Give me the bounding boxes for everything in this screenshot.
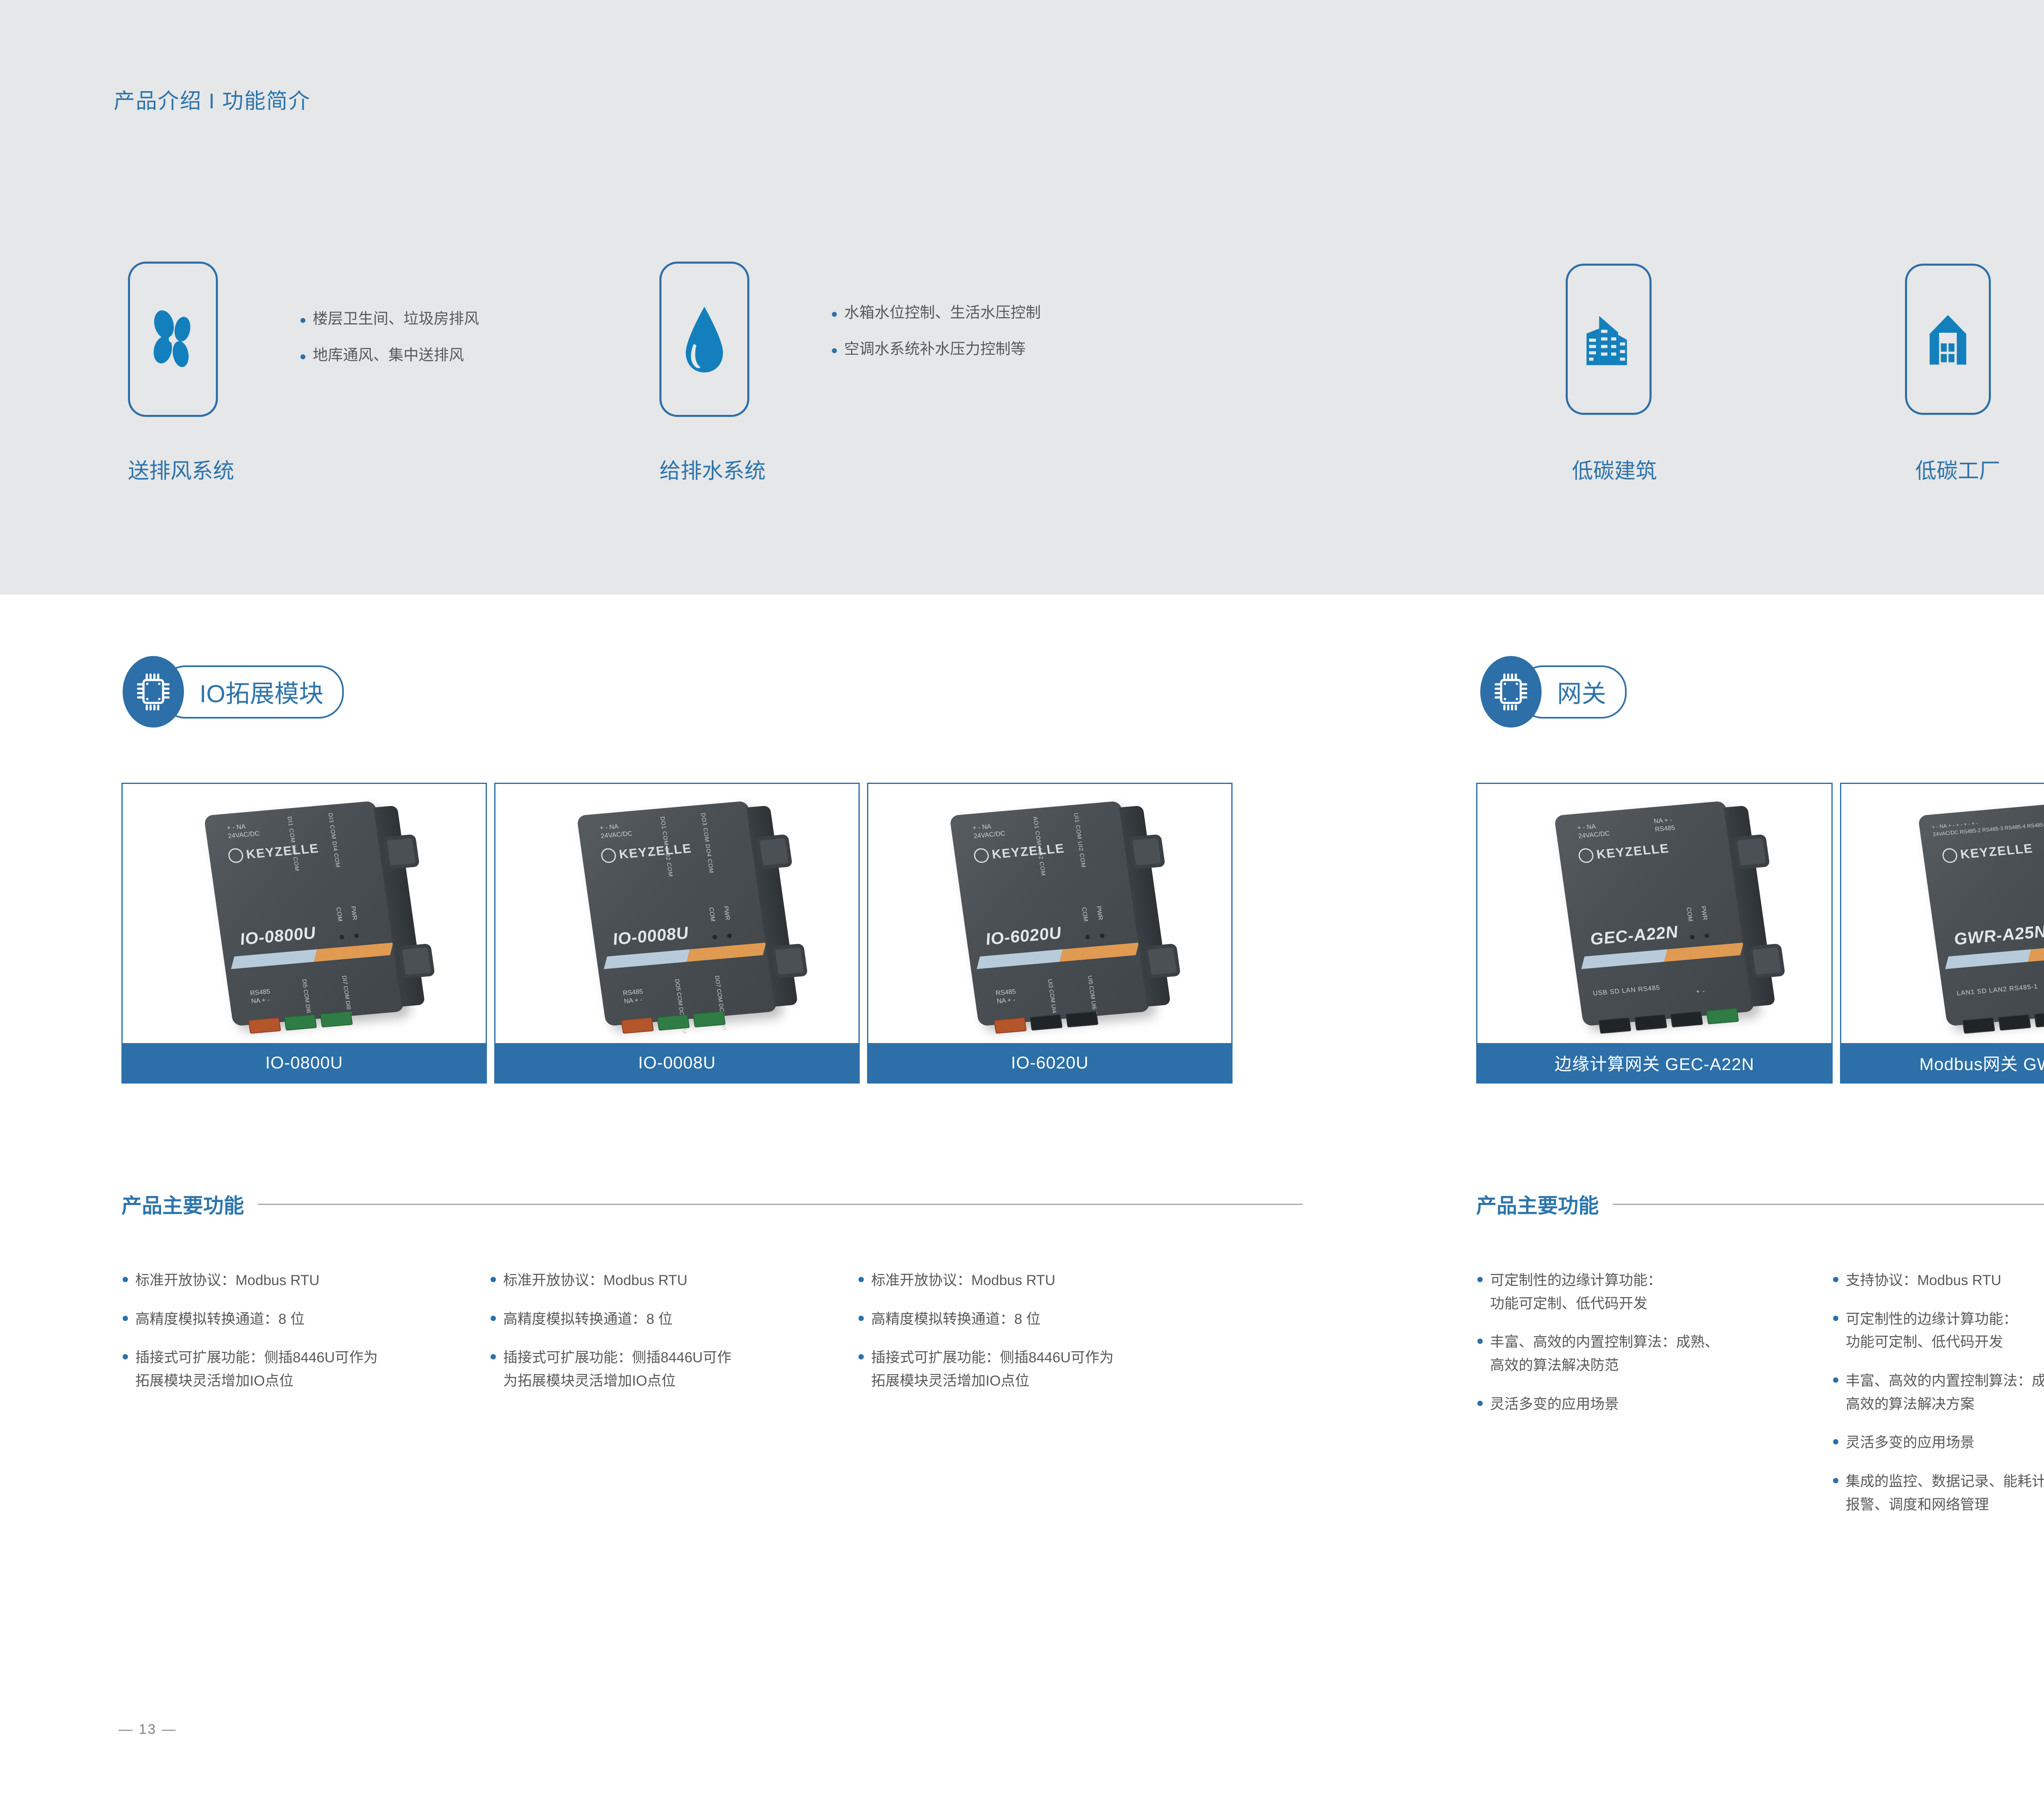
feature-text: 插接式可扩展功能：侧插8446U可作为 拓展模块灵活增加IO点位 <box>871 1346 1114 1393</box>
device-top-ports-2: DI3 COM DI4 COM <box>327 813 341 868</box>
product-caption: IO-0008U <box>495 1043 858 1082</box>
terminal-block <box>1066 1011 1099 1028</box>
list-item: 标准开放协议：Modbus RTU <box>858 1269 1226 1292</box>
bullet-dot-icon <box>1833 1478 1838 1483</box>
bullet-text: 地库通风、集中送排风 <box>313 347 464 364</box>
device-model: GEC-A22N <box>1589 922 1679 949</box>
device-terminal-blocks <box>1962 1008 2044 1034</box>
section-title-io: IO拓展模块 <box>199 674 323 710</box>
device-mount-ear-bottom <box>1143 943 1181 978</box>
usb-port <box>1598 1017 1632 1034</box>
target-tile-factory-label: 低碳工厂 <box>1915 454 2000 484</box>
bullet-dot-icon <box>1477 1339 1483 1344</box>
terminal-block <box>1030 1014 1063 1030</box>
chip-glyph-icon <box>136 672 171 712</box>
device-led-label-com: COM <box>335 907 344 922</box>
list-item: 空调水系统补水压力控制等 <box>832 341 1041 358</box>
feature-text: 灵活多变的应用场景 <box>1846 1431 1975 1455</box>
brochure-page: 产品介绍 I 功能简介 产品介绍 I 功能简介 送排风系统 楼层卫生间、垃圾房排… <box>0 0 2044 1798</box>
bullet-dot-icon <box>300 318 305 323</box>
product-card[interactable]: + - NA 24VAC/DC DO1 COM DO2 COM DO3 COM … <box>494 783 860 1084</box>
features-title: 产品主要功能 <box>1476 1189 1599 1219</box>
feature-text: 支持协议：Modbus RTU <box>1846 1269 2001 1292</box>
bullet-dot-icon <box>1833 1439 1838 1444</box>
device-brand: KEYZELLE <box>1578 841 1670 864</box>
feature-text: 灵活多变的应用场景 <box>1490 1393 1619 1416</box>
lan1-port <box>1962 1017 1995 1034</box>
bullet-dot-icon <box>858 1354 864 1359</box>
bullet-dot-icon <box>1833 1316 1838 1321</box>
brand-mark-icon <box>1578 848 1594 864</box>
features-column: 支持协议：Modbus RTU 可定制性的边缘计算功能： 功能可定制、低代码开发… <box>1833 1269 2044 1532</box>
lan-port <box>1670 1011 1703 1028</box>
bullet-dot-icon <box>832 348 837 353</box>
scenario-tile-ventilation-label: 送排风系统 <box>128 454 234 484</box>
section-title-pill-io: IO拓展模块 <box>160 665 344 719</box>
product-caption: Modbus网关 GWR-A25N <box>1841 1043 2044 1082</box>
bullet-dot-icon <box>123 1354 128 1359</box>
list-item: 灵活多变的应用场景 <box>1833 1431 2044 1455</box>
product-caption: IO-6020U <box>868 1043 1231 1082</box>
device-mount-ear-top <box>1128 834 1165 869</box>
bullet-text: 水箱水位控制、生活水压控制 <box>844 305 1041 321</box>
device-power-label: + - NA + - + - + - + - 24VAC/DC RS485-2 … <box>1931 813 2044 837</box>
features-columns-gateway: 可定制性的边缘计算功能： 功能可定制、低代码开发 丰富、高效的内置控制算法：成熟… <box>1477 1269 2044 1532</box>
product-image: + - NA 24VAC/DC DO1 COM DO2 COM DO3 COM … <box>495 784 858 1043</box>
list-item: 插接式可扩展功能：侧插8446U可作为 拓展模块灵活增加IO点位 <box>123 1346 491 1393</box>
bullet-dot-icon <box>300 354 305 359</box>
product-card[interactable]: + - NA + - + - + - + - 24VAC/DC RS485-2 … <box>1840 783 2044 1084</box>
device-led-label-pwr: PWR <box>350 906 359 920</box>
feature-text: 集成的监控、数据记录、能耗计量、 报警、调度和网络管理 <box>1846 1470 2044 1516</box>
terminal-block <box>657 1014 690 1030</box>
list-item: 可定制性的边缘计算功能： 功能可定制、低代码开发 <box>1477 1269 1833 1315</box>
bullet-dot-icon <box>832 312 837 317</box>
bullet-dot-icon <box>123 1316 128 1321</box>
product-image: + - NA 24VAC/DC NA + - RS485 KEYZELLE <box>1477 784 1831 1043</box>
chip-icon <box>1480 656 1542 728</box>
bullet-dot-icon <box>858 1316 864 1321</box>
device-illustration: + - NA 24VAC/DC AO1 COM AO2 COM UI1 COM … <box>949 801 1150 1026</box>
gateway-product-card-list: + - NA 24VAC/DC NA + - RS485 KEYZELLE <box>1476 783 2044 1084</box>
product-image: + - NA + - + - + - + - 24VAC/DC RS485-2 … <box>1841 784 2044 1043</box>
feature-text: 插接式可扩展功能：侧插8446U可作 为拓展模块灵活增加IO点位 <box>503 1346 731 1393</box>
list-item: 丰富、高效的内置控制算法：成熟、 高效的算法解决防范 <box>1477 1331 1833 1377</box>
list-item: 高精度模拟转换通道：8 位 <box>123 1308 491 1331</box>
terminal-block <box>1706 1008 1739 1024</box>
device-model: GWR-A25N <box>1953 922 2044 949</box>
target-tile-building-label: 低碳建筑 <box>1572 454 1657 484</box>
bullet-dot-icon <box>491 1354 496 1359</box>
terminal-block <box>248 1017 281 1034</box>
device-led-com <box>1690 935 1695 940</box>
io-product-card-list: + - NA 24VAC/DC DI1 COM DI2 COM DI3 COM … <box>121 783 1233 1084</box>
bullet-dot-icon <box>491 1277 496 1282</box>
device-model: IO-0008U <box>612 923 690 949</box>
list-item: 集成的监控、数据记录、能耗计量、 报警、调度和网络管理 <box>1833 1470 2044 1516</box>
device-illustration: + - NA 24VAC/DC DO1 COM DO2 COM DO3 COM … <box>576 801 777 1026</box>
brand-mark-icon <box>600 848 617 864</box>
fan-icon <box>142 307 204 372</box>
feature-text: 标准开放协议：Modbus RTU <box>503 1269 688 1292</box>
device-rs485-label: RS485 NA + - <box>623 988 645 1006</box>
water-bullet-list: 水箱水位控制、生活水压控制 空调水系统补水压力控制等 <box>832 305 1041 377</box>
list-item: 支持协议：Modbus RTU <box>1833 1269 2044 1292</box>
chip-icon <box>123 656 184 728</box>
brand-mark-icon <box>227 848 244 864</box>
product-caption: 边缘计算网关 GEC-A22N <box>1477 1043 1831 1082</box>
device-power-label: + - NA 24VAC/DC <box>1577 822 1610 840</box>
feature-text: 标准开放协议：Modbus RTU <box>135 1269 320 1292</box>
device-illustration: + - NA 24VAC/DC DI1 COM DI2 COM DI3 COM … <box>204 801 404 1026</box>
features-title: 产品主要功能 <box>121 1189 244 1219</box>
list-item: 标准开放协议：Modbus RTU <box>123 1269 491 1292</box>
feature-text: 标准开放协议：Modbus RTU <box>871 1269 1056 1292</box>
list-item: 插接式可扩展功能：侧插8446U可作 为拓展模块灵活增加IO点位 <box>491 1346 858 1393</box>
device-led-label-pwr: PWR <box>1095 906 1104 920</box>
device-power-label: + - NA 24VAC/DC <box>226 822 260 840</box>
device-brand: KEYZELLE <box>1941 841 2034 864</box>
device-model: IO-6020U <box>984 923 1063 949</box>
device-top-ports-2: UI1 COM UI2 COM <box>1073 813 1087 868</box>
bullet-dot-icon <box>1477 1401 1483 1406</box>
list-item: 地库通风、集中送排风 <box>300 347 479 364</box>
brand-mark-icon <box>973 848 990 864</box>
device-model: IO-0800U <box>239 923 317 949</box>
device-led-label-pwr: PWR <box>722 906 731 920</box>
device-led-label-com: COM <box>1685 907 1694 922</box>
feature-text: 高精度模拟转换通道：8 位 <box>871 1308 1040 1331</box>
features-header-gateway: 产品主要功能 <box>1476 1189 2044 1219</box>
top-scenario-band: 产品介绍 I 功能简介 产品介绍 I 功能简介 送排风系统 楼层卫生间、垃圾房排… <box>0 0 2044 595</box>
bullet-dot-icon <box>491 1316 496 1321</box>
target-tile-factory <box>1905 264 1991 415</box>
brand-mark-icon <box>1941 848 1958 864</box>
scenario-tile-water <box>659 262 749 417</box>
list-item: 水箱水位控制、生活水压控制 <box>832 305 1041 321</box>
features-column: 标准开放协议：Modbus RTU 高精度模拟转换通道：8 位 插接式可扩展功能… <box>123 1269 491 1408</box>
features-rule <box>1613 1204 2044 1205</box>
device-led-label-pwr: PWR <box>1700 906 1709 920</box>
device-led-com <box>1085 935 1090 940</box>
device-bottom-port-labels: LAN1 SD LAN2 RS485-1 + - <box>1957 981 2044 1005</box>
device-mount-ear-bottom <box>398 943 435 978</box>
feature-text: 丰富、高效的内置控制算法：成熟、 高效的算法解决方案 <box>1846 1370 2044 1416</box>
features-column: 标准开放协议：Modbus RTU 高精度模拟转换通道：8 位 插接式可扩展功能… <box>858 1269 1226 1408</box>
feature-text: 高精度模拟转换通道：8 位 <box>503 1308 672 1331</box>
device-led-label-com: COM <box>708 907 717 922</box>
features-column: 可定制性的边缘计算功能： 功能可定制、低代码开发 丰富、高效的内置控制算法：成熟… <box>1477 1269 1833 1532</box>
water-drop-icon <box>678 302 731 376</box>
list-item: 灵活多变的应用场景 <box>1477 1393 1833 1416</box>
device-brand: KEYZELLE <box>227 841 320 864</box>
list-item: 插接式可扩展功能：侧插8446U可作为 拓展模块灵活增加IO点位 <box>858 1346 1226 1393</box>
list-item: 标准开放协议：Modbus RTU <box>491 1269 858 1292</box>
device-terminal-blocks <box>1598 1008 1739 1034</box>
chip-glyph-icon <box>1493 672 1529 712</box>
device-rs485-top-label: NA + - RS485 <box>1653 816 1675 834</box>
device-led-pwr <box>354 934 359 938</box>
device-power-label: + - NA 24VAC/DC <box>972 822 1006 840</box>
page-header-left: 产品介绍 I 功能简介 <box>114 84 310 114</box>
device-rs485-label: RS485 NA + - <box>250 988 272 1006</box>
device-led-pwr <box>727 934 732 938</box>
sd-port <box>1998 1014 2031 1030</box>
device-mount-ear-top <box>383 834 420 869</box>
list-item: 可定制性的边缘计算功能： 功能可定制、低代码开发 <box>1833 1308 2044 1354</box>
feature-text: 高精度模拟转换通道：8 位 <box>135 1308 305 1331</box>
device-terminal-blocks <box>621 1011 726 1034</box>
device-led-com <box>339 935 345 940</box>
scenario-tile-water-label: 给排水系统 <box>659 454 766 484</box>
device-led-com <box>712 935 717 940</box>
device-illustration: + - NA 24VAC/DC NA + - RS485 KEYZELLE <box>1554 801 1755 1026</box>
terminal-block <box>994 1017 1027 1034</box>
product-card[interactable]: + - NA 24VAC/DC NA + - RS485 KEYZELLE <box>1476 783 1833 1084</box>
terminal-block <box>693 1011 726 1028</box>
ventilation-bullet-list: 楼层卫生间、垃圾房排风 地库通风、集中送排风 <box>300 311 479 383</box>
device-led-pwr <box>1100 934 1105 938</box>
device-top-ports-2: DO3 COM DO4 COM <box>700 813 715 874</box>
feature-text: 可定制性的边缘计算功能： 功能可定制、低代码开发 <box>1490 1269 1662 1315</box>
features-rule <box>258 1204 1303 1205</box>
terminal-block <box>284 1014 317 1030</box>
list-item: 高精度模拟转换通道：8 位 <box>858 1308 1226 1331</box>
bullet-dot-icon <box>1833 1277 1838 1282</box>
list-item: 楼层卫生间、垃圾房排风 <box>300 311 479 327</box>
list-item: 丰富、高效的内置控制算法：成熟、 高效的算法解决方案 <box>1833 1370 2044 1416</box>
sd-port <box>1634 1014 1667 1030</box>
features-column: 标准开放协议：Modbus RTU 高精度模拟转换通道：8 位 插接式可扩展功能… <box>491 1269 858 1408</box>
section-header-io: IO拓展模块 <box>123 656 344 728</box>
bullet-dot-icon <box>123 1277 128 1282</box>
scenario-tile-ventilation <box>128 262 218 417</box>
device-brand: KEYZELLE <box>973 841 1065 864</box>
product-card[interactable]: + - NA 24VAC/DC AO1 COM AO2 COM UI1 COM … <box>867 783 1233 1084</box>
device-illustration: + - NA + - + - + - + - 24VAC/DC RS485-2 … <box>1918 801 2044 1026</box>
device-mount-ear-bottom <box>1748 943 1785 978</box>
device-mount-ear-top <box>755 834 793 869</box>
device-led-label-com: COM <box>1080 907 1089 922</box>
bullet-dot-icon <box>1833 1377 1838 1383</box>
page-number-left: — 13 — <box>119 1722 177 1738</box>
features-columns-io: 标准开放协议：Modbus RTU 高精度模拟转换通道：8 位 插接式可扩展功能… <box>123 1269 1226 1408</box>
lan2-port <box>2034 1011 2044 1028</box>
list-item: 高精度模拟转换通道：8 位 <box>491 1308 858 1331</box>
bullet-text: 楼层卫生间、垃圾房排风 <box>313 311 479 327</box>
device-bottom-port-labels: USB SD LAN RS485 + - <box>1593 981 1706 1005</box>
device-power-label: + - NA 24VAC/DC <box>599 822 633 840</box>
device-mount-ear-bottom <box>771 943 808 978</box>
product-card[interactable]: + - NA 24VAC/DC DI1 COM DI2 COM DI3 COM … <box>121 783 487 1084</box>
product-image: + - NA 24VAC/DC DI1 COM DI2 COM DI3 COM … <box>123 784 486 1043</box>
device-brand: KEYZELLE <box>600 841 693 864</box>
device-mount-ear-top <box>1733 834 1770 869</box>
features-header-io: 产品主要功能 <box>121 1189 1303 1219</box>
terminal-block <box>320 1011 353 1028</box>
terminal-block <box>621 1017 654 1034</box>
bullet-text: 空调水系统补水压力控制等 <box>844 341 1026 358</box>
product-caption: IO-0800U <box>123 1043 486 1082</box>
product-image: + - NA 24VAC/DC AO1 COM AO2 COM UI1 COM … <box>868 784 1231 1043</box>
feature-text: 丰富、高效的内置控制算法：成熟、 高效的算法解决防范 <box>1490 1331 1719 1377</box>
bullet-dot-icon <box>858 1277 864 1282</box>
feature-text: 插接式可扩展功能：侧插8446U可作为 拓展模块灵活增加IO点位 <box>135 1346 378 1393</box>
feature-text: 可定制性的边缘计算功能： 功能可定制、低代码开发 <box>1846 1308 2017 1354</box>
device-rs485-label: RS485 NA + - <box>995 988 1018 1006</box>
section-title-gateway: 网关 <box>1557 674 1606 710</box>
office-buildings-icon <box>1580 305 1637 374</box>
section-header-gateway: 网关 <box>1480 656 1627 728</box>
target-tile-building <box>1566 264 1652 415</box>
device-terminal-blocks <box>994 1011 1098 1034</box>
device-terminal-blocks <box>248 1011 353 1034</box>
bullet-dot-icon <box>1477 1277 1483 1282</box>
device-led-pwr <box>1704 934 1710 938</box>
factory-icon <box>1921 305 1975 374</box>
